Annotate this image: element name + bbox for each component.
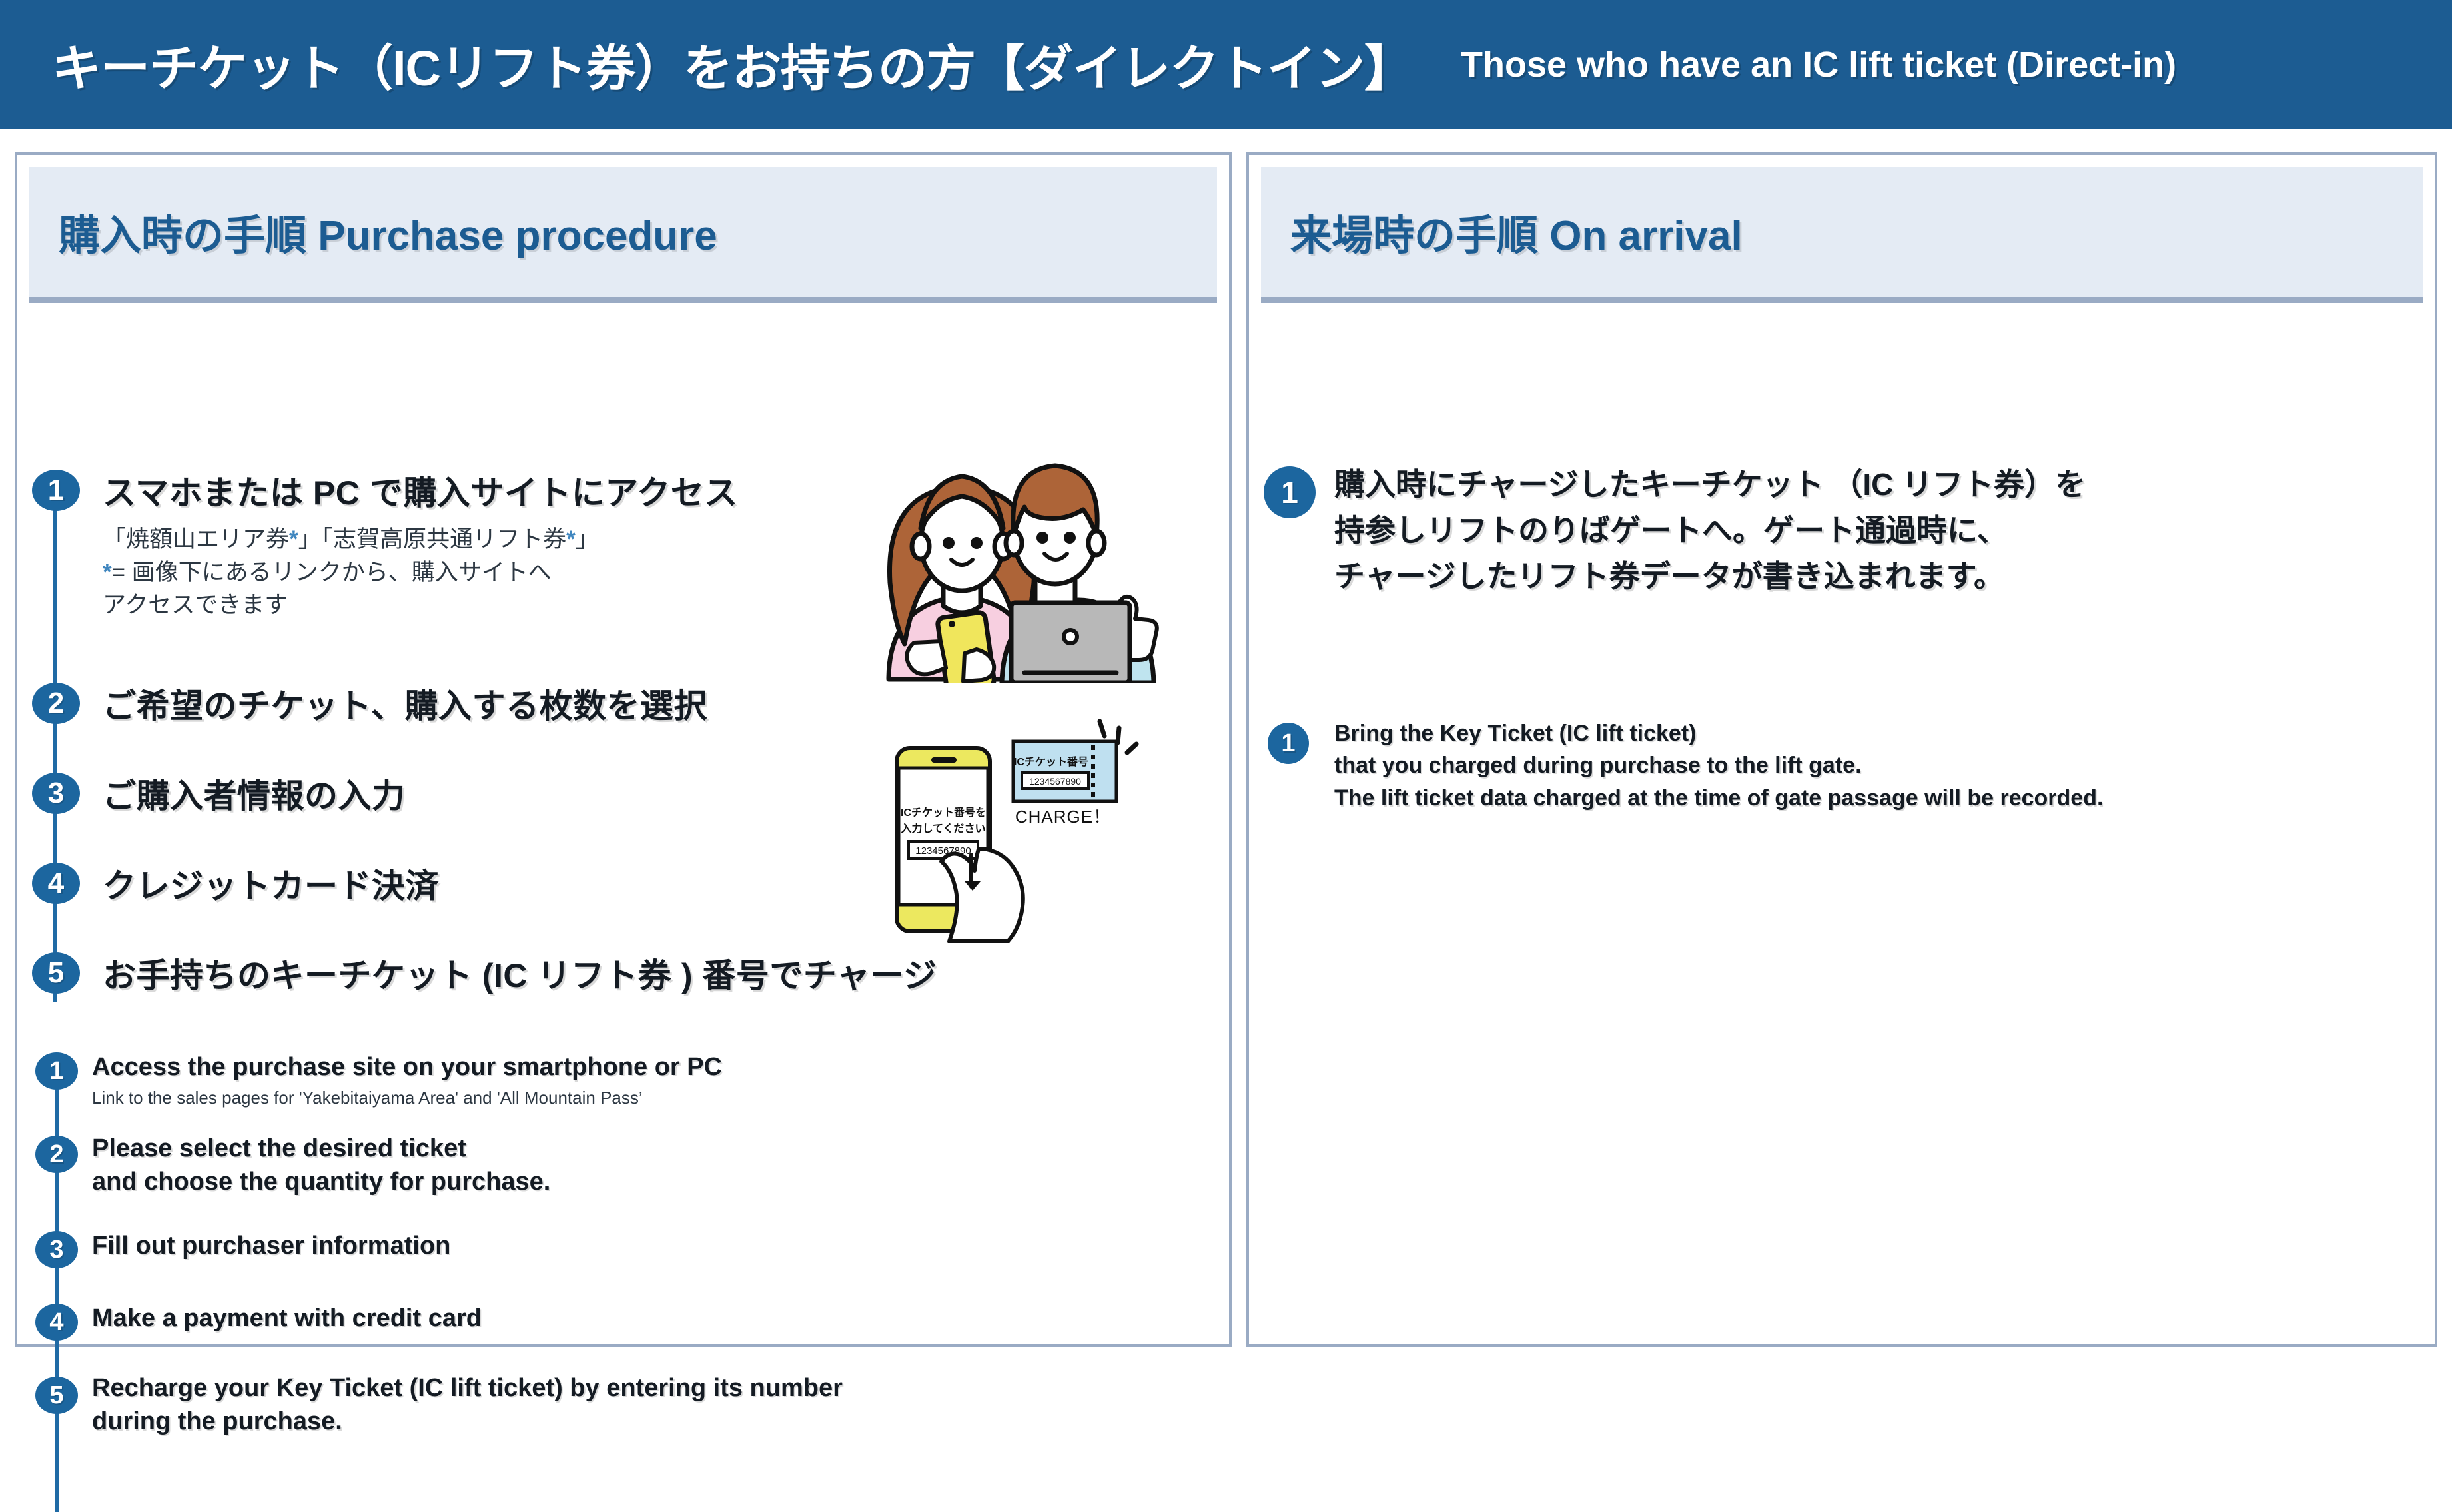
asterisk-icon-2: * — [566, 526, 576, 552]
step-bullet-jp-3-label: 3 — [48, 777, 64, 810]
step-subtext-en-1: Link to the sales pages for 'Yakebitaiya… — [92, 1088, 643, 1108]
arrival-text-en-line3: The lift ticket data charged at the time… — [1334, 782, 2103, 814]
step-title-en-4: Make a payment with credit card — [92, 1302, 482, 1335]
step-title-jp-5: お手持ちのキーチケット (IC リフト券 ) 番号でチャージ — [103, 949, 937, 997]
asterisk-icon-3: * — [103, 560, 112, 585]
step-rail-japanese — [53, 496, 57, 1002]
step-bullet-jp-3: 3 — [32, 773, 80, 814]
arrival-text-japanese: 購入時にチャージしたキーチケット （IC リフト券）を 持参しリフトのりばゲート… — [1334, 462, 2086, 599]
step-bullet-en-2-label: 2 — [49, 1140, 63, 1169]
step-bullet-en-2: 2 — [35, 1136, 78, 1173]
arrival-text-en-line2: that you charged during purchase to the … — [1334, 749, 2103, 781]
page-header-bar: キーチケット（ICリフト券）をお持ちの方【ダイレクトイン】 Those who … — [0, 0, 2452, 129]
asterisk-note: = 画像下にあるリンクから、購入サイトへ — [112, 560, 552, 585]
ticket-name-2: 」「志賀高原共通リフト券 — [298, 526, 567, 552]
ticket-name-1: 「焼額山エリア券 — [103, 526, 289, 552]
step-bullet-en-5-label: 5 — [49, 1381, 63, 1410]
arrival-text-jp-line1: 購入時にチャージしたキーチケット （IC リフト券）を — [1334, 462, 2086, 508]
on-arrival-panel: 来場時の手順 On arrival 1 購入時にチャージしたキーチケット （IC… — [1246, 152, 2437, 1347]
step-bullet-jp-1-label: 1 — [48, 474, 64, 507]
step-title-jp-2: ご希望のチケット、購入する枚数を選択 — [103, 679, 707, 727]
step-bullet-en-3-label: 3 — [49, 1236, 63, 1264]
page-title-japanese: キーチケット（ICリフト券）をお持ちの方【ダイレクトイン】 — [52, 29, 1413, 100]
purchase-procedure-title: 購入時の手順 Purchase procedure — [59, 202, 717, 262]
charge-illustration: ICチケット番号を 入力してください 1234567890 ICチケット番号 1… — [870, 716, 1203, 943]
step-subtext-jp-1-line2: *= 画像下にあるリンクから、購入サイトへ — [103, 556, 599, 589]
arrival-bullet-en-1-label: 1 — [1281, 729, 1295, 758]
step-bullet-en-4-label: 4 — [49, 1308, 63, 1337]
phone-prompt-line1: ICチケット番号を — [901, 806, 986, 819]
step-title-en-3: Fill out purchaser information — [92, 1229, 450, 1262]
step-title-en-2: Please select the desired ticket and cho… — [92, 1132, 550, 1198]
arrival-text-en-line1: Bring the Key Ticket (IC lift ticket) — [1334, 717, 2103, 749]
arrival-text-jp-line2: 持参しリフトのりばゲートへ。ゲート通過時に、 — [1334, 508, 2086, 554]
step-title-jp-1: スマホまたは PC で購入サイトにアクセス — [103, 466, 738, 514]
step-title-jp-3: ご購入者情報の入力 — [103, 769, 406, 817]
arrival-text-jp-line3: チャージしたリフト券データが書き込まれます。 — [1334, 554, 2086, 599]
step-bullet-jp-2-label: 2 — [48, 687, 64, 720]
step-subtext-jp-1-line3: アクセスできます — [103, 589, 599, 622]
step-title-en-5-line1: Recharge your Key Ticket (IC lift ticket… — [92, 1371, 843, 1405]
step-bullet-en-5: 5 — [35, 1377, 78, 1414]
step-subtext-jp-1-line1: 「焼額山エリア券*」「志賀高原共通リフト券*」 — [103, 523, 599, 556]
arrival-text-english: Bring the Key Ticket (IC lift ticket) th… — [1334, 717, 2103, 814]
step-title-en-2-line2: and choose the quantity for purchase. — [92, 1165, 550, 1198]
step-bullet-jp-1: 1 — [32, 470, 80, 511]
page-title-english: Those who have an IC lift ticket (Direct… — [1461, 44, 2176, 85]
step-bullet-jp-4: 4 — [32, 863, 80, 904]
step-bullet-en-4: 4 — [35, 1304, 78, 1341]
charge-label: CHARGE！ — [1015, 807, 1111, 827]
purchase-procedure-panel: 購入時の手順 Purchase procedure 1 スマホまたは PC で購… — [15, 152, 1232, 1347]
step-subtext-jp-1: 「焼額山エリア券*」「志賀高原共通リフト券*」 *= 画像下にあるリンクから、購… — [103, 523, 599, 622]
step-bullet-jp-5: 5 — [32, 952, 80, 994]
step-bullet-en-3: 3 — [35, 1231, 78, 1268]
ticket-label: ICチケット番号 — [1014, 755, 1088, 768]
ticket-number-value: 1234567890 — [1029, 776, 1081, 787]
on-arrival-header: 来場時の手順 On arrival — [1261, 167, 2423, 303]
step-bullet-jp-2: 2 — [32, 683, 80, 724]
closing-bracket: 」 — [576, 526, 599, 552]
purchase-procedure-body: 1 スマホまたは PC で購入サイトにアクセス 「焼額山エリア券*」「志賀高原共… — [17, 303, 1229, 1316]
arrival-bullet-jp-1-label: 1 — [1281, 474, 1298, 510]
purchase-procedure-header: 購入時の手順 Purchase procedure — [29, 167, 1217, 303]
asterisk-icon-1: * — [289, 526, 298, 552]
step-bullet-en-1-label: 1 — [49, 1057, 63, 1086]
step-bullet-jp-4-label: 4 — [48, 867, 64, 900]
step-title-en-5-line2: during the purchase. — [92, 1405, 843, 1438]
step-bullet-jp-5-label: 5 — [48, 956, 64, 990]
on-arrival-title: 来場時の手順 On arrival — [1290, 202, 1743, 262]
arrival-bullet-jp-1: 1 — [1264, 466, 1316, 518]
step-bullet-en-1: 1 — [35, 1052, 78, 1090]
step-title-en-2-line1: Please select the desired ticket — [92, 1132, 550, 1165]
people-illustration — [877, 450, 1190, 683]
step-title-jp-4: クレジットカード決済 — [103, 859, 439, 907]
step-title-en-1: Access the purchase site on your smartph… — [92, 1050, 722, 1084]
step-title-en-5: Recharge your Key Ticket (IC lift ticket… — [92, 1371, 843, 1438]
on-arrival-body: 1 購入時にチャージしたキーチケット （IC リフト券）を 持参しリフトのりばゲ… — [1249, 303, 2435, 1316]
arrival-bullet-en-1: 1 — [1268, 723, 1309, 764]
phone-prompt-line2: 入力してください — [901, 822, 985, 835]
